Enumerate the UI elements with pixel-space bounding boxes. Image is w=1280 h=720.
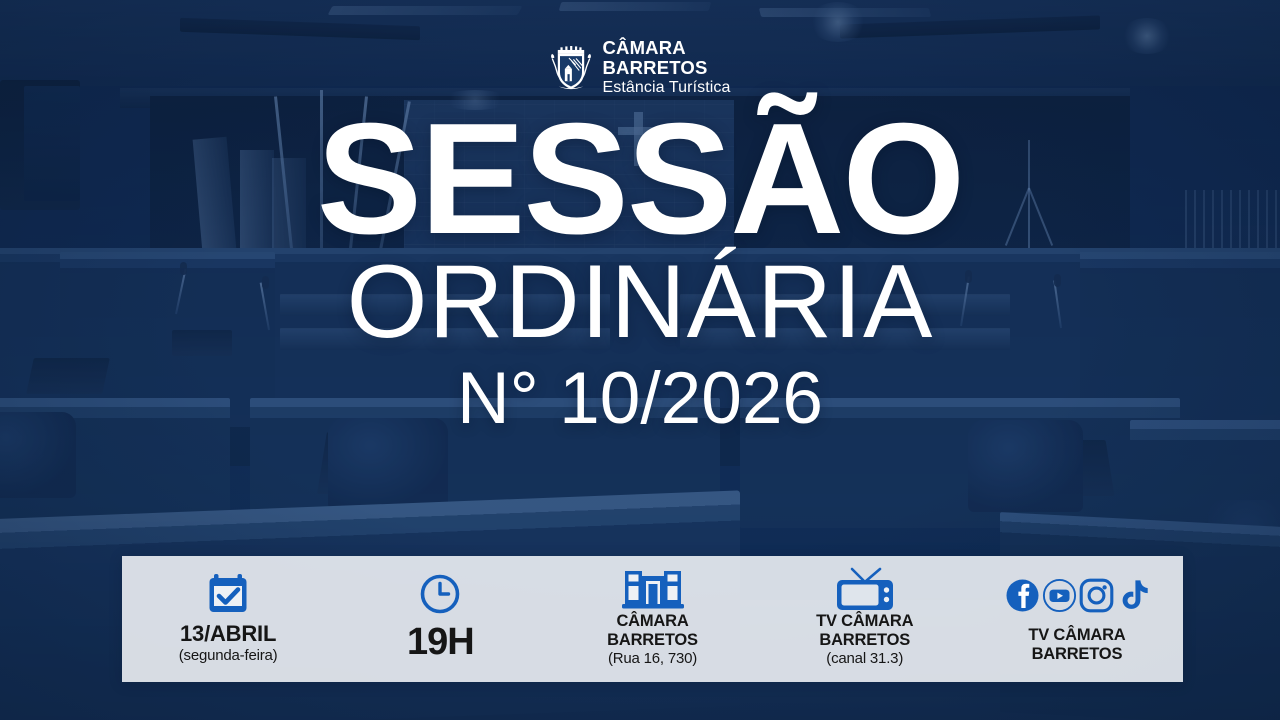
tv-channel: (canal 31.3) xyxy=(826,650,903,668)
info-cell-date: 13/ABRIL (segunda-feira) xyxy=(122,556,334,682)
title-line-sessao: SESSÃO xyxy=(0,106,1280,253)
info-cell-time: 19H xyxy=(334,556,546,682)
header-line-camara: CÂMARA xyxy=(602,38,730,58)
venue-name-line1: CÂMARA xyxy=(616,612,688,630)
venue-name-line2: BARRETOS xyxy=(607,631,698,649)
info-cell-social: TV CÂMARA BARRETOS xyxy=(971,556,1183,682)
tv-name-line2: BARRETOS xyxy=(819,631,910,649)
weekday-value: (segunda-feira) xyxy=(179,647,278,665)
venue-address: (Rua 16, 730) xyxy=(608,650,697,668)
social-name-line1: TV CÂMARA xyxy=(1028,626,1125,644)
date-value: 13/ABRIL xyxy=(180,622,276,646)
instagram-icon[interactable] xyxy=(1079,578,1114,613)
title-line-ordinaria: ORDINÁRIA xyxy=(0,247,1280,357)
facebook-icon[interactable] xyxy=(1005,578,1040,613)
tiktok-icon[interactable] xyxy=(1116,578,1149,613)
television-icon xyxy=(835,568,895,612)
info-cell-venue: CÂMARA BARRETOS (Rua 16, 730) xyxy=(546,556,758,682)
social-name-line2: BARRETOS xyxy=(1032,645,1123,663)
barretos-coat-of-arms-icon xyxy=(549,45,593,91)
clock-icon xyxy=(419,572,461,616)
time-value: 19H xyxy=(407,622,474,664)
tv-name-line1: TV CÂMARA xyxy=(816,612,913,630)
title-line-number: N° 10/2026 xyxy=(0,361,1280,438)
social-media-icons xyxy=(1005,573,1149,617)
header-logo: CÂMARA BARRETOS Estância Turística xyxy=(0,38,1280,97)
info-cell-tv: TV CÂMARA BARRETOS (canal 31.3) xyxy=(759,556,971,682)
info-bar: 13/ABRIL (segunda-feira) 19H xyxy=(122,556,1183,682)
session-announcement-banner: CÂMARA BARRETOS Estância Turística SESSÃ… xyxy=(0,0,1280,720)
page-title: SESSÃO ORDINÁRIA N° 10/2026 xyxy=(0,106,1280,438)
calendar-check-icon xyxy=(208,571,248,615)
header-line-barretos: BARRETOS xyxy=(602,58,730,78)
header-logo-text: CÂMARA BARRETOS Estância Turística xyxy=(602,38,730,97)
youtube-icon[interactable] xyxy=(1042,578,1077,613)
building-icon xyxy=(622,568,684,612)
